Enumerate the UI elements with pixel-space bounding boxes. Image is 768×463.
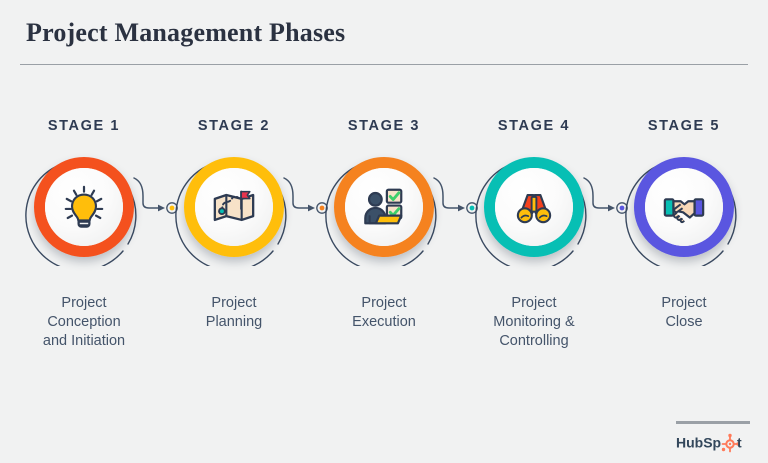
footer-divider [676, 421, 750, 424]
header: Project Management Phases [20, 16, 748, 65]
stage-item-3[interactable]: STAGE 3 [309, 118, 459, 332]
lightbulb-icon [61, 184, 107, 230]
stage-label-3: STAGE 3 [348, 118, 420, 134]
title-divider [20, 64, 748, 65]
map-flag-icon [211, 184, 257, 230]
stage-circle-5[interactable] [625, 148, 743, 266]
hubspot-wordmark-before: HubSp [676, 435, 721, 451]
stage-description-1: Project Conception and Initiation [43, 294, 125, 351]
stage-icon-holder-1 [45, 168, 123, 246]
stage-description-4: Project Monitoring & Controlling [493, 294, 574, 351]
stage-circle-3[interactable] [325, 148, 443, 266]
stage-list: STAGE 1 [0, 118, 768, 408]
binoculars-icon [512, 185, 556, 229]
stage-icon-holder-5 [645, 168, 723, 246]
stage-icon-holder-3 [345, 168, 423, 246]
page-title: Project Management Phases [20, 16, 748, 50]
stage-icon-holder-2 [195, 168, 273, 246]
stage-description-3: Project Execution [352, 294, 416, 332]
stage-description-5: Project Close [661, 294, 706, 332]
stage-item-2[interactable]: STAGE 2 [159, 118, 309, 332]
stage-circle-4[interactable] [475, 148, 593, 266]
stage-item-1[interactable]: STAGE 1 [9, 118, 159, 351]
stage-label-4: STAGE 4 [498, 118, 570, 134]
stage-label-2: STAGE 2 [198, 118, 270, 134]
handshake-icon [661, 184, 707, 230]
stage-item-5[interactable]: STAGE 5 Project Close [609, 118, 759, 332]
person-laptop-checklist-icon [361, 184, 407, 230]
hubspot-wordmark-after: t [737, 435, 742, 451]
stage-label-1: STAGE 1 [48, 118, 120, 134]
hubspot-sprocket-icon: HubSp t [676, 433, 752, 453]
stage-description-2: Project Planning [206, 294, 262, 332]
stage-label-5: STAGE 5 [648, 118, 720, 134]
stage-circle-1[interactable] [25, 148, 143, 266]
stage-icon-holder-4 [495, 168, 573, 246]
stage-circle-2[interactable] [175, 148, 293, 266]
hubspot-logo: HubSp t [676, 432, 752, 454]
stage-item-4[interactable]: STAGE 4 [459, 118, 609, 351]
